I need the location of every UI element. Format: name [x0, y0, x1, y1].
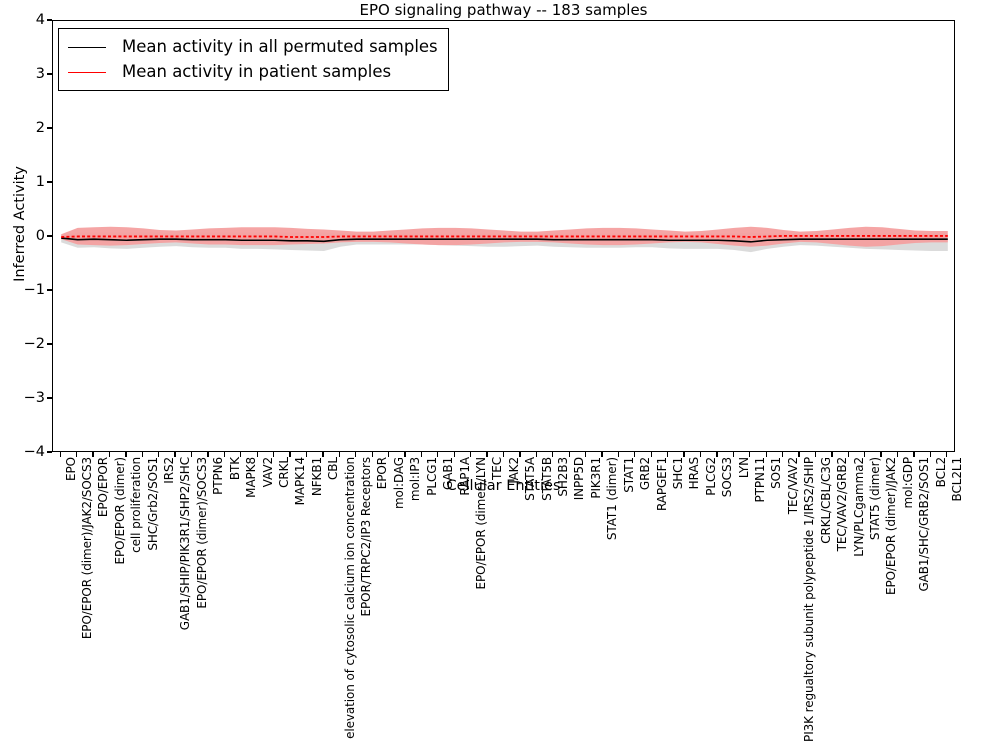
x-axis-tick-mark — [109, 452, 110, 457]
x-axis-tick-mark — [224, 452, 225, 457]
x-axis-tick-mark — [142, 452, 143, 457]
x-axis-tick-mark — [240, 452, 241, 457]
x-axis-tick-label: TEC/VAV2/GRB2 — [836, 457, 848, 551]
x-axis-tick-mark — [913, 452, 914, 457]
x-axis-tick-mark — [782, 452, 783, 457]
y-axis-tick-mark — [47, 397, 52, 398]
x-axis-tick-label: BTK — [229, 457, 241, 480]
y-axis-title: Inferred Activity — [12, 8, 28, 440]
x-axis-tick-mark — [174, 452, 175, 457]
x-axis-tick-label: LYN — [738, 457, 750, 478]
x-axis-tick-mark — [76, 452, 77, 457]
x-axis-tick-mark — [486, 452, 487, 457]
x-axis-tick-mark — [454, 452, 455, 457]
y-axis-tick-mark — [47, 289, 52, 290]
x-axis-tick-label: cell proliferation — [130, 457, 142, 553]
x-axis-tick-mark — [273, 452, 274, 457]
x-axis-tick-mark — [536, 452, 537, 457]
x-axis-tick-mark — [700, 452, 701, 457]
x-axis-tick-label: CRKL/CBL/C3G — [820, 457, 832, 544]
x-axis-tick-mark — [404, 452, 405, 457]
y-axis-tick-label: 3 — [36, 66, 45, 82]
y-axis-tick-label: 0 — [36, 228, 45, 244]
x-axis-tick-mark — [864, 452, 865, 457]
x-axis-tick-mark — [930, 452, 931, 457]
x-axis-tick-mark — [322, 452, 323, 457]
x-axis-tick-mark — [766, 452, 767, 457]
x-axis-tick-mark — [355, 452, 356, 457]
x-axis-tick-mark — [191, 452, 192, 457]
x-axis-tick-mark — [339, 452, 340, 457]
legend-item: Mean activity in patient samples — [68, 59, 438, 84]
y-axis-tick-label: 1 — [36, 174, 45, 190]
x-axis-tick-label: elevation of cytosolic calcium ion conce… — [344, 457, 356, 739]
legend: Mean activity in all permuted samples Me… — [58, 28, 449, 91]
x-axis-tick-mark — [372, 452, 373, 457]
x-axis-tick-mark — [421, 452, 422, 457]
x-axis-tick-mark — [815, 452, 816, 457]
x-axis-tick-mark — [207, 452, 208, 457]
y-axis-tick-mark — [47, 451, 52, 452]
y-axis-tick-mark — [47, 19, 52, 20]
x-axis-tick-label: LYN/PLCgamma2 — [853, 457, 865, 557]
page-title: EPO signaling pathway -- 183 samples — [52, 1, 955, 19]
x-axis-tick-mark — [651, 452, 652, 457]
y-axis-tick-label: 4 — [36, 12, 45, 28]
x-axis-tick-mark — [749, 452, 750, 457]
x-axis-tick-mark — [503, 452, 504, 457]
x-axis-tick-mark — [519, 452, 520, 457]
x-axis-tick-mark — [733, 452, 734, 457]
x-axis-tick-mark — [470, 452, 471, 457]
y-axis-tick-mark — [47, 343, 52, 344]
x-axis-tick-mark — [92, 452, 93, 457]
y-axis-tick-mark — [47, 181, 52, 182]
x-axis-tick-mark — [125, 452, 126, 457]
x-axis-tick-mark — [257, 452, 258, 457]
y-axis-tick-label: 2 — [36, 120, 45, 136]
x-axis-tick-mark — [388, 452, 389, 457]
x-axis-title: Cellular Entities — [52, 478, 955, 494]
x-axis-tick-mark — [897, 452, 898, 457]
x-axis-tick-mark — [306, 452, 307, 457]
legend-line-permuted-icon — [68, 40, 106, 54]
x-axis-tick-mark — [601, 452, 602, 457]
x-axis-tick-mark — [634, 452, 635, 457]
x-axis-tick-mark — [946, 452, 947, 457]
x-axis-tick-mark — [667, 452, 668, 457]
legend-line-patient-icon — [68, 65, 106, 79]
x-axis-tick-mark — [880, 452, 881, 457]
x-axis-tick-mark — [552, 452, 553, 457]
x-axis-tick-mark — [585, 452, 586, 457]
y-axis-tick-mark — [47, 127, 52, 128]
x-axis-tick-mark — [289, 452, 290, 457]
legend-label: Mean activity in patient samples — [122, 62, 391, 81]
legend-item: Mean activity in all permuted samples — [68, 34, 438, 59]
x-axis-tick-label: TEC — [491, 457, 503, 480]
x-axis-tick-mark — [158, 452, 159, 457]
x-axis-tick-label: CBL — [327, 457, 339, 480]
x-axis-tick-label: EPO/EPOR (dimer)/LYN — [475, 457, 487, 590]
x-axis-tick-mark — [848, 452, 849, 457]
x-axis-tick-mark — [437, 452, 438, 457]
y-axis-tick-label: −4 — [24, 444, 45, 460]
x-axis-tick-mark — [569, 452, 570, 457]
x-axis-tick-mark — [60, 452, 61, 457]
matplotlib-figure: EPO signaling pathway -- 183 samples 432… — [0, 0, 1000, 500]
x-axis-tick-label: SHC/Grb2/SOS1 — [147, 457, 159, 551]
x-axis-tick-label: STAT1 (dimer) — [606, 457, 618, 540]
legend-label: Mean activity in all permuted samples — [122, 37, 438, 56]
x-axis-tick-mark — [831, 452, 832, 457]
x-axis-tick-mark — [798, 452, 799, 457]
y-axis-tick-mark — [47, 73, 52, 74]
x-axis-tick-label: STAT5 (dimer) — [869, 457, 881, 540]
x-axis-tick-mark — [716, 452, 717, 457]
x-axis-tick-mark — [683, 452, 684, 457]
y-axis-tick-mark — [47, 235, 52, 236]
x-axis-tick-label: EPO/EPOR (dimer) — [114, 457, 126, 564]
x-axis-tick-mark — [618, 452, 619, 457]
